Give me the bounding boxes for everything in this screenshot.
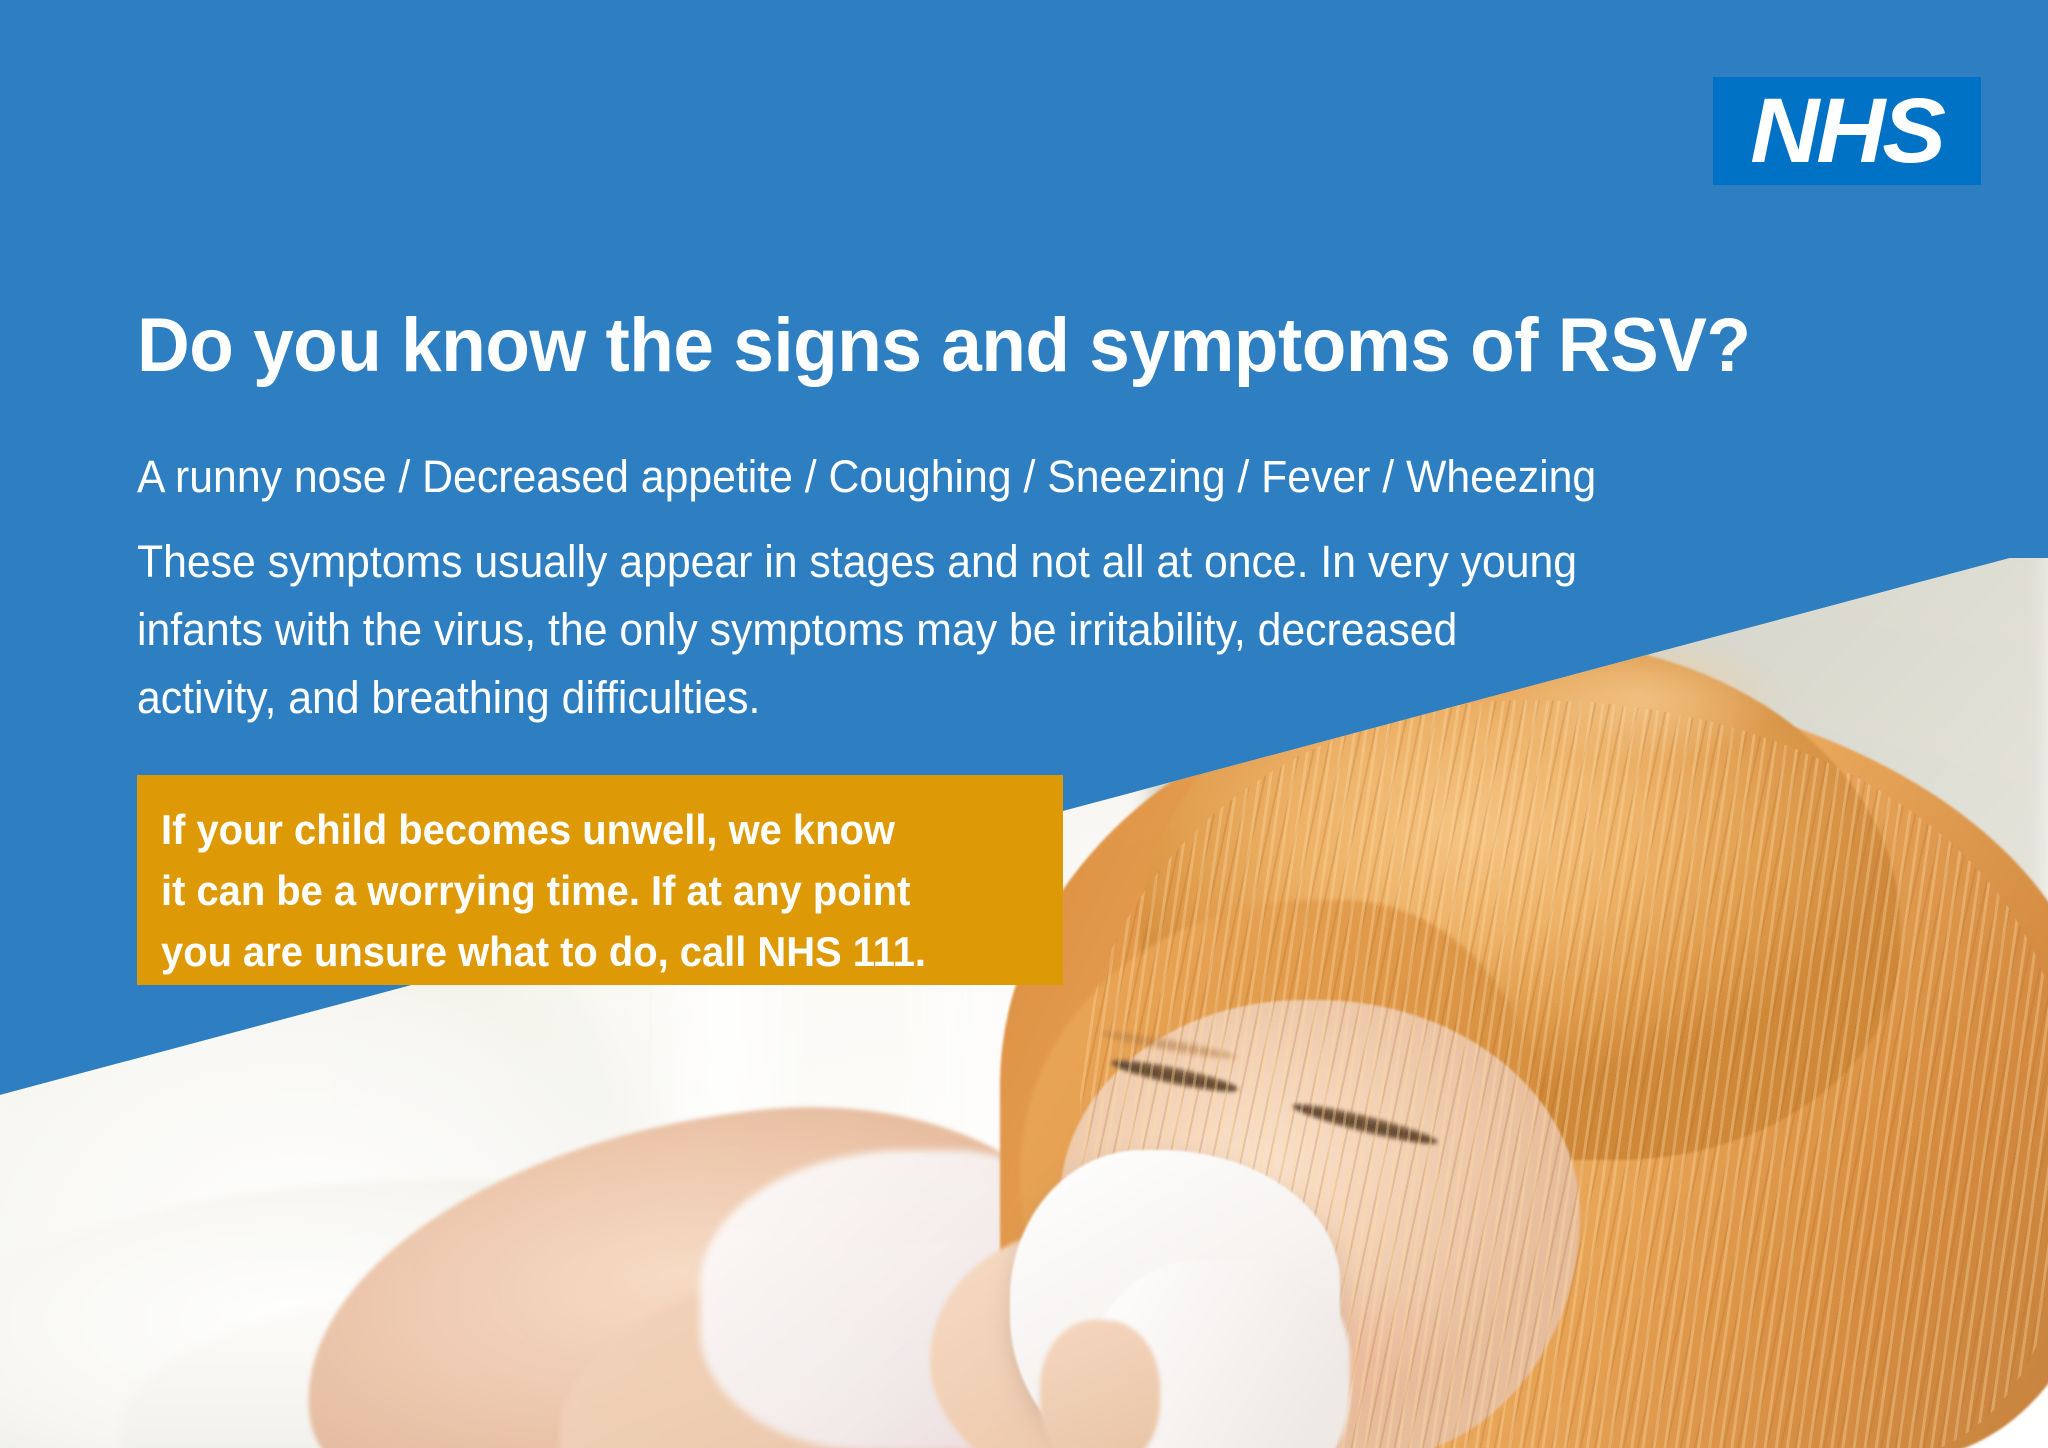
callout-line-3: you are unsure what to do, call NHS 111. [161, 921, 1018, 982]
advice-callout-box: If your child becomes unwell, we know it… [137, 775, 1063, 985]
symptoms-list: A runny nose / Decreased appetite / Coug… [137, 450, 1771, 504]
callout-line-2: it can be a worrying time. If at any poi… [161, 860, 1018, 921]
body-line-3: activity, and breathing difficulties. [137, 664, 1657, 732]
body-line-1: These symptoms usually appear in stages … [137, 528, 1657, 596]
page-title: Do you know the signs and symptoms of RS… [137, 306, 1865, 386]
body-paragraph: These symptoms usually appear in stages … [137, 528, 1657, 732]
nhs-rsv-awareness-poster: NHS Do you know the signs and symptoms o… [0, 0, 2048, 1448]
callout-line-1: If your child becomes unwell, we know [161, 799, 1018, 860]
nhs-logo: NHS [1713, 77, 1981, 185]
body-line-2: infants with the virus, the only symptom… [137, 596, 1657, 664]
nhs-logo-text: NHS [1751, 85, 1944, 177]
photo-child-finger [1040, 1320, 1160, 1448]
